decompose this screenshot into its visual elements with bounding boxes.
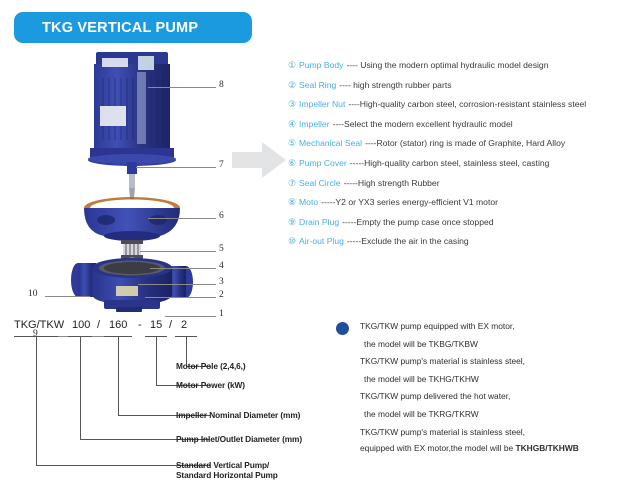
legend-number-1: ① xyxy=(288,60,299,71)
product-spec-sheet: TKG VERTICAL PUMP xyxy=(0,0,617,500)
model-code-diagram: TKG/TKW 100 / 160 - 15 / 2 Motor Pole (2… xyxy=(0,305,330,500)
legend-number-6: ⑥ xyxy=(288,158,299,169)
note-line-2: the model will be TKBG/TKBW xyxy=(364,336,617,354)
arrow-right-icon xyxy=(232,140,288,180)
model-seg-pole: 2 xyxy=(181,319,187,331)
legend-part-10: Air-out Plug xyxy=(299,236,344,247)
legend-number-10: ⑩ xyxy=(288,236,299,247)
note-line-8: equipped with EX motor,the model will be… xyxy=(360,441,617,455)
model-drop-power xyxy=(156,336,157,385)
legend-part-2: Seal Ring xyxy=(299,80,336,91)
callout-leader-8 xyxy=(148,87,216,88)
legend-item-9: ⑨ Drain Plug -----Empty the pump case on… xyxy=(288,217,614,228)
legend-desc-8: -----Y2 or YX3 series energy-efficient V… xyxy=(321,197,498,208)
model-seg-slash-1: / xyxy=(97,319,100,331)
note-line-3: TKG/TKW pump's material is stainless ste… xyxy=(360,353,617,371)
note-line-8-text: equipped with EX motor,the model will be xyxy=(360,443,516,453)
legend-item-4: ④ Impeller ----Select the modern excelle… xyxy=(288,119,614,130)
legend-desc-7: -----High strength Rubber xyxy=(344,178,440,189)
model-drop-series xyxy=(36,336,37,465)
legend-desc-4: ----Select the modern excellent hydrauli… xyxy=(333,119,513,130)
legend-item-1: ① Pump Body ---- Using the modern optima… xyxy=(288,60,614,71)
model-variant-notes: TKG/TKW pump equipped with EX motor, the… xyxy=(336,318,617,455)
callout-leader-5 xyxy=(140,251,216,252)
model-seg-power: 15 xyxy=(150,319,162,331)
legend-part-4: Impeller xyxy=(299,119,330,130)
model-drop-inlet xyxy=(80,336,81,439)
model-label-standard-horizontal: Standard Horizontal Pump xyxy=(176,470,278,481)
legend-desc-6: -----High-quality carbon steel, stainles… xyxy=(350,158,550,169)
bullet-icon xyxy=(336,322,349,335)
callout-leader-2 xyxy=(145,297,216,298)
legend-number-9: ⑨ xyxy=(288,217,299,228)
legend-number-5: ⑤ xyxy=(288,138,299,149)
legend-part-7: Seal Circle xyxy=(299,178,341,189)
callout-3: 3 xyxy=(219,277,224,287)
callout-8: 8 xyxy=(219,80,224,90)
legend-item-3: ③ Impeller Nut ----High-quality carbon s… xyxy=(288,99,614,110)
legend-item-2: ② Seal Ring ---- high strength rubber pa… xyxy=(288,80,614,91)
legend-item-7: ⑦ Seal Circle -----High strength Rubber xyxy=(288,178,614,189)
legend-number-8: ⑧ xyxy=(288,197,299,208)
model-label-power: Motor Power (kW) xyxy=(176,380,245,391)
note-line-4: the model will be TKHG/TKHW xyxy=(364,371,617,389)
legend-desc-3: ----High-quality carbon steel, corrosion… xyxy=(348,99,586,110)
callout-5: 5 xyxy=(219,244,224,254)
callout-7: 7 xyxy=(219,160,224,170)
callout-leader-7 xyxy=(136,167,216,168)
note-line-6: the model will be TKRG/TKRW xyxy=(364,406,617,424)
legend-part-3: Impeller Nut xyxy=(299,99,345,110)
model-label-pole: Motor Pole (2,4,6,) xyxy=(176,361,246,372)
model-label-standard-vertical: Standard Vertical Pump/ xyxy=(176,460,269,471)
callout-4: 4 xyxy=(219,261,224,271)
model-seg-inlet: 100 xyxy=(72,319,90,331)
callout-leader-6 xyxy=(148,218,216,219)
legend-item-10: ⑩ Air-out Plug -----Exclude the air in t… xyxy=(288,236,614,247)
callout-6: 6 xyxy=(219,211,224,221)
legend-desc-10: -----Exclude the air in the casing xyxy=(347,236,469,247)
model-seg-impeller: 160 xyxy=(109,319,127,331)
pump-illustration: 8 7 6 5 4 3 2 1 10 9 xyxy=(20,48,255,303)
callout-leader-4 xyxy=(150,268,216,269)
callout-leader-3 xyxy=(138,284,216,285)
model-seg-series: TKG/TKW xyxy=(14,319,64,331)
page-title: TKG VERTICAL PUMP xyxy=(42,20,198,36)
model-seg-dash: - xyxy=(138,319,142,331)
model-seg-slash-2: / xyxy=(169,319,172,331)
legend-desc-2: ---- high strength rubber parts xyxy=(339,80,451,91)
model-label-inlet: Pump Inlet/Outlet Diameter (mm) xyxy=(176,434,302,445)
note-line-8-model: TKHGB/TKHWB xyxy=(516,443,579,453)
legend-number-4: ④ xyxy=(288,119,299,130)
model-label-impeller: Impeller Nominal Diameter (mm) xyxy=(176,410,300,421)
legend-part-6: Pump Cover xyxy=(299,158,347,169)
legend-item-8: ⑧ Moto -----Y2 or YX3 series energy-effi… xyxy=(288,197,614,208)
note-line-1: TKG/TKW pump equipped with EX motor, xyxy=(360,318,617,336)
legend-item-5: ⑤ Mechanical Seal ----Rotor (stator) rin… xyxy=(288,138,614,149)
note-line-5: TKG/TKW pump delivered the hot water, xyxy=(360,388,617,406)
legend-part-9: Drain Plug xyxy=(299,217,339,228)
legend-desc-5: ----Rotor (stator) ring is made of Graph… xyxy=(365,138,565,149)
model-drop-impeller xyxy=(118,336,119,415)
callout-10: 10 xyxy=(28,289,38,299)
page-title-banner: TKG VERTICAL PUMP xyxy=(14,12,252,43)
legend-number-7: ⑦ xyxy=(288,178,299,189)
legend-part-8: Moto xyxy=(299,197,318,208)
legend-item-6: ⑥ Pump Cover -----High-quality carbon st… xyxy=(288,158,614,169)
callout-leader-10 xyxy=(45,296,90,297)
legend-desc-9: -----Empty the pump case once stopped xyxy=(342,217,493,228)
legend-desc-1: ---- Using the modern optimal hydraulic … xyxy=(346,60,548,71)
legend-part-1: Pump Body xyxy=(299,60,343,71)
legend-number-3: ③ xyxy=(288,99,299,110)
note-line-7: TKG/TKW pump's material is stainless ste… xyxy=(360,424,617,442)
parts-legend: ① Pump Body ---- Using the modern optima… xyxy=(288,60,614,256)
legend-number-2: ② xyxy=(288,80,299,91)
callout-2: 2 xyxy=(219,290,224,300)
legend-part-5: Mechanical Seal xyxy=(299,138,362,149)
